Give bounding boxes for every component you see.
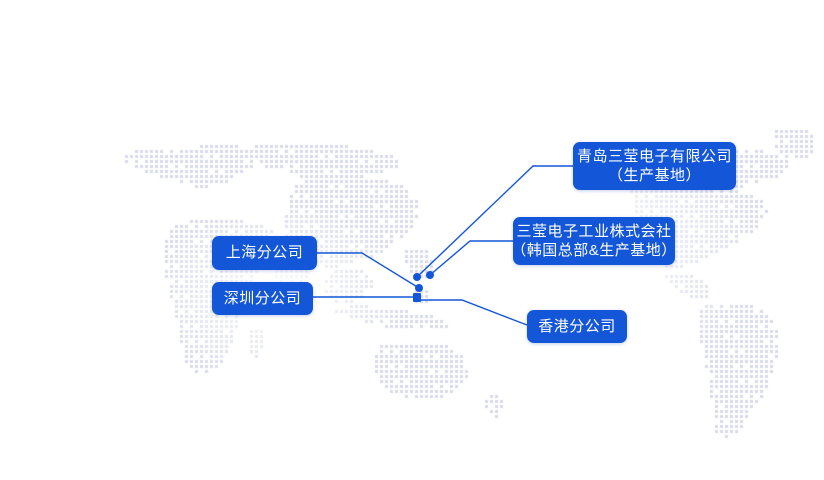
callout-qingdao-plant[interactable]: 青岛三莹电子有限公司 （生产基地） bbox=[573, 142, 736, 190]
callout-line1: 深圳分公司 bbox=[224, 289, 302, 308]
callout-line2: （韩国总部&生产基地） bbox=[511, 241, 677, 260]
callout-line1: 青岛三莹电子有限公司 bbox=[577, 147, 732, 166]
marker-shanghai[interactable] bbox=[415, 284, 423, 292]
marker-shenzhen-hongkong[interactable] bbox=[413, 293, 421, 302]
connector-korea bbox=[430, 241, 513, 275]
marker-korea[interactable] bbox=[426, 271, 434, 279]
connector-shanghai bbox=[317, 253, 419, 288]
connector-lines bbox=[0, 0, 824, 480]
marker-qingdao[interactable] bbox=[413, 273, 421, 281]
global-locations-map: 青岛三莹电子有限公司 （生产基地） 三莹电子工业株式会社 （韩国总部&生产基地）… bbox=[0, 0, 824, 480]
connector-hongkong bbox=[418, 300, 527, 325]
callout-korea-headquarters[interactable]: 三莹电子工业株式会社 （韩国总部&生产基地） bbox=[513, 217, 675, 265]
callout-line2: （生产基地） bbox=[608, 166, 701, 185]
callout-hongkong-branch[interactable]: 香港分公司 bbox=[527, 310, 627, 343]
callout-line1: 三莹电子工业株式会社 bbox=[516, 222, 671, 241]
callout-line1: 上海分公司 bbox=[226, 243, 304, 262]
callout-shanghai-branch[interactable]: 上海分公司 bbox=[212, 236, 317, 270]
callout-line1: 香港分公司 bbox=[538, 317, 616, 336]
callout-shenzhen-branch[interactable]: 深圳分公司 bbox=[212, 282, 313, 315]
